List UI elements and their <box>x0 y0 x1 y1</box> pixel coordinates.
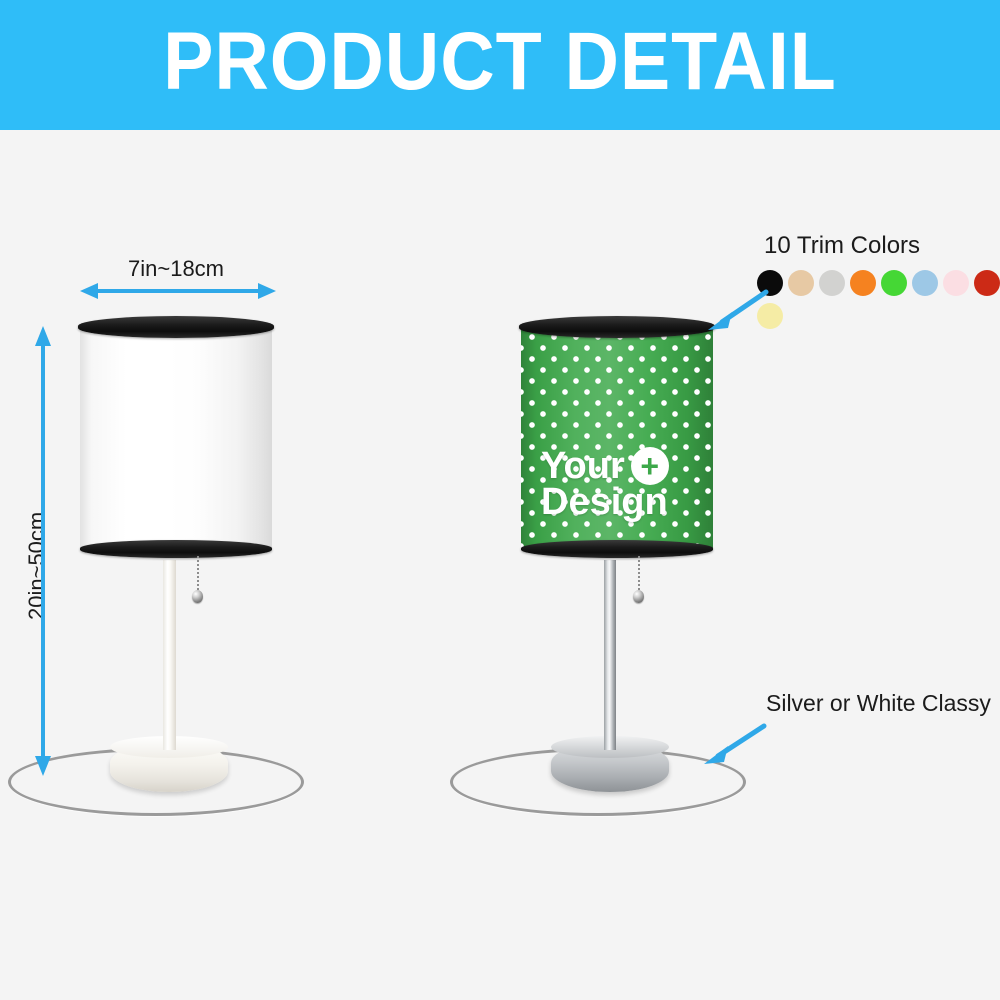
design-line-1-text: Your <box>541 449 625 484</box>
design-line-2-text: Design <box>541 485 669 520</box>
height-dimension-arrow <box>30 326 56 776</box>
width-dimension-arrow <box>80 278 276 304</box>
base-finish-pointer-arrow <box>700 722 770 766</box>
custom-design-artwork: Your + Design <box>541 447 669 520</box>
trim-colors-pointer-arrow <box>706 288 772 332</box>
plus-badge-icon: + <box>631 447 669 485</box>
design-line-1-row: Your + <box>541 447 669 485</box>
page-title: PRODUCT DETAIL <box>40 0 960 130</box>
trim-swatch-light-gray[interactable] <box>819 270 845 296</box>
lampshade-white <box>80 326 272 552</box>
lamp-pole-white <box>163 560 176 750</box>
trim-swatch-pink[interactable] <box>943 270 969 296</box>
trim-swatch-red[interactable] <box>974 270 1000 296</box>
lampshade-trim-top-white <box>78 316 274 338</box>
header-band: PRODUCT DETAIL <box>0 0 1000 130</box>
lampshade-trim-top-green <box>519 316 715 338</box>
pull-chain-ball-green[interactable] <box>633 590 644 603</box>
trim-colors-title: 10 Trim Colors <box>764 232 920 260</box>
lampshade-trim-bottom-green <box>521 540 713 558</box>
trim-swatch-tan[interactable] <box>788 270 814 296</box>
trim-swatch-green[interactable] <box>881 270 907 296</box>
product-detail-page: PRODUCT DETAIL You <box>0 0 1000 1000</box>
lampshade-trim-bottom-white <box>80 540 272 558</box>
trim-swatch-light-blue[interactable] <box>912 270 938 296</box>
base-finish-label: Silver or White Classy <box>766 690 991 717</box>
lamp-pole-silver <box>604 560 616 750</box>
pull-chain-ball-white[interactable] <box>192 590 203 603</box>
trim-swatch-orange[interactable] <box>850 270 876 296</box>
